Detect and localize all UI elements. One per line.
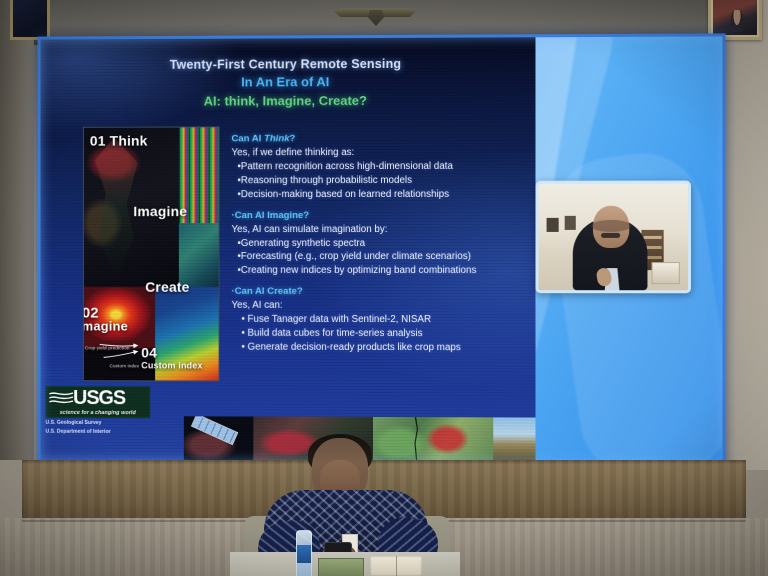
slide-title-block: Twenty-First Century Remote Sensing In A… xyxy=(38,56,536,109)
section-intro: Yes, if we define thinking as: xyxy=(231,146,521,161)
scene-root: Twenty-First Century Remote Sensing In A… xyxy=(0,0,768,576)
ceiling-emblem-icon xyxy=(330,0,420,26)
collage-label-02-sub: Imagine xyxy=(83,319,128,334)
usgs-agency-line1: U.S. Geological Survey xyxy=(45,420,152,427)
video-participant-thumbnail[interactable] xyxy=(535,181,691,294)
section-intro: Yes, AI can: xyxy=(231,299,521,313)
slide-section-imagine: ·Can AI Imagine? Yes, AI can simulate im… xyxy=(231,210,521,279)
usgs-logo: USGS science for a changing world U.S. G… xyxy=(45,386,152,436)
usgs-tagline: science for a changing world xyxy=(48,410,147,416)
slide-section-think: Can AI Think? Yes, if we define thinking… xyxy=(231,133,521,202)
green-book xyxy=(318,558,364,576)
slide-title-line1: Twenty-First Century Remote Sensing xyxy=(38,56,536,72)
slide-body-column: Can AI Think? Yes, if we define thinking… xyxy=(231,133,521,364)
section-bullet: • Build data cubes for time-series analy… xyxy=(231,327,521,341)
wall-left-column xyxy=(0,0,34,460)
section-heading-think: Can AI Think? xyxy=(231,133,521,145)
section-intro: Yes, AI can simulate imagination by: xyxy=(231,223,521,237)
slide-title-line3: AI: think, Imagine, Create? xyxy=(38,92,536,109)
collage-annotation-custom-index: Custom index xyxy=(110,363,140,368)
collage-label-01-think: 01 Think xyxy=(90,133,148,149)
collage-label-04: 04 xyxy=(141,345,157,361)
usgs-agency-line2: U.S. Department of Interior xyxy=(45,429,152,436)
slide-title-line2: In An Era of AI xyxy=(38,73,536,90)
shared-slide[interactable]: Twenty-First Century Remote Sensing In A… xyxy=(38,34,536,465)
section-bullet: •Generating synthetic spectra xyxy=(231,236,521,250)
slide-section-create: ·Can AI Create? Yes, AI can: • Fuse Tana… xyxy=(231,286,521,355)
projection-screen[interactable]: Twenty-First Century Remote Sensing In A… xyxy=(38,33,726,466)
slide-image-collage: 01 Think Imagine Create 02 Imagine Crop … xyxy=(83,126,220,381)
section-heading-create: ·Can AI Create? xyxy=(231,286,521,297)
banner-landscape-photo xyxy=(493,417,535,465)
section-bullet: •Creating new indices by optimizing band… xyxy=(231,264,521,278)
banner-satellite-image xyxy=(184,416,254,464)
section-bullet: •Decision-making based on learned relati… xyxy=(231,188,521,202)
collage-teal-field-image xyxy=(179,223,219,287)
collage-annotation-crop-yield: Crop yield prediction xyxy=(85,345,130,350)
section-bullet: •Pattern recognition across high-dimensi… xyxy=(231,160,521,174)
heading-italic: Think xyxy=(264,133,289,144)
collage-label-04-sub: Custom index xyxy=(141,360,202,370)
water-bottle xyxy=(296,530,312,576)
section-bullet: •Forecasting (e.g., crop yield under cli… xyxy=(231,250,521,264)
collage-label-create: Create xyxy=(145,279,189,295)
section-bullet: • Fuse Tanager data with Sentinel-2, NIS… xyxy=(231,313,521,327)
framed-picture-left xyxy=(10,0,50,40)
section-bullet: •Reasoning through probabilistic models xyxy=(231,174,521,188)
open-book xyxy=(370,556,422,576)
section-heading-imagine: ·Can AI Imagine? xyxy=(231,210,521,221)
heading-suffix: ? xyxy=(289,133,295,144)
section-bullet: • Generate decision-ready products like … xyxy=(231,341,521,356)
usgs-wave-icon xyxy=(48,390,74,406)
heading-prefix: Can AI xyxy=(231,133,264,144)
collage-label-imagine: Imagine xyxy=(133,203,187,219)
usgs-wordmark: USGS xyxy=(73,387,125,409)
